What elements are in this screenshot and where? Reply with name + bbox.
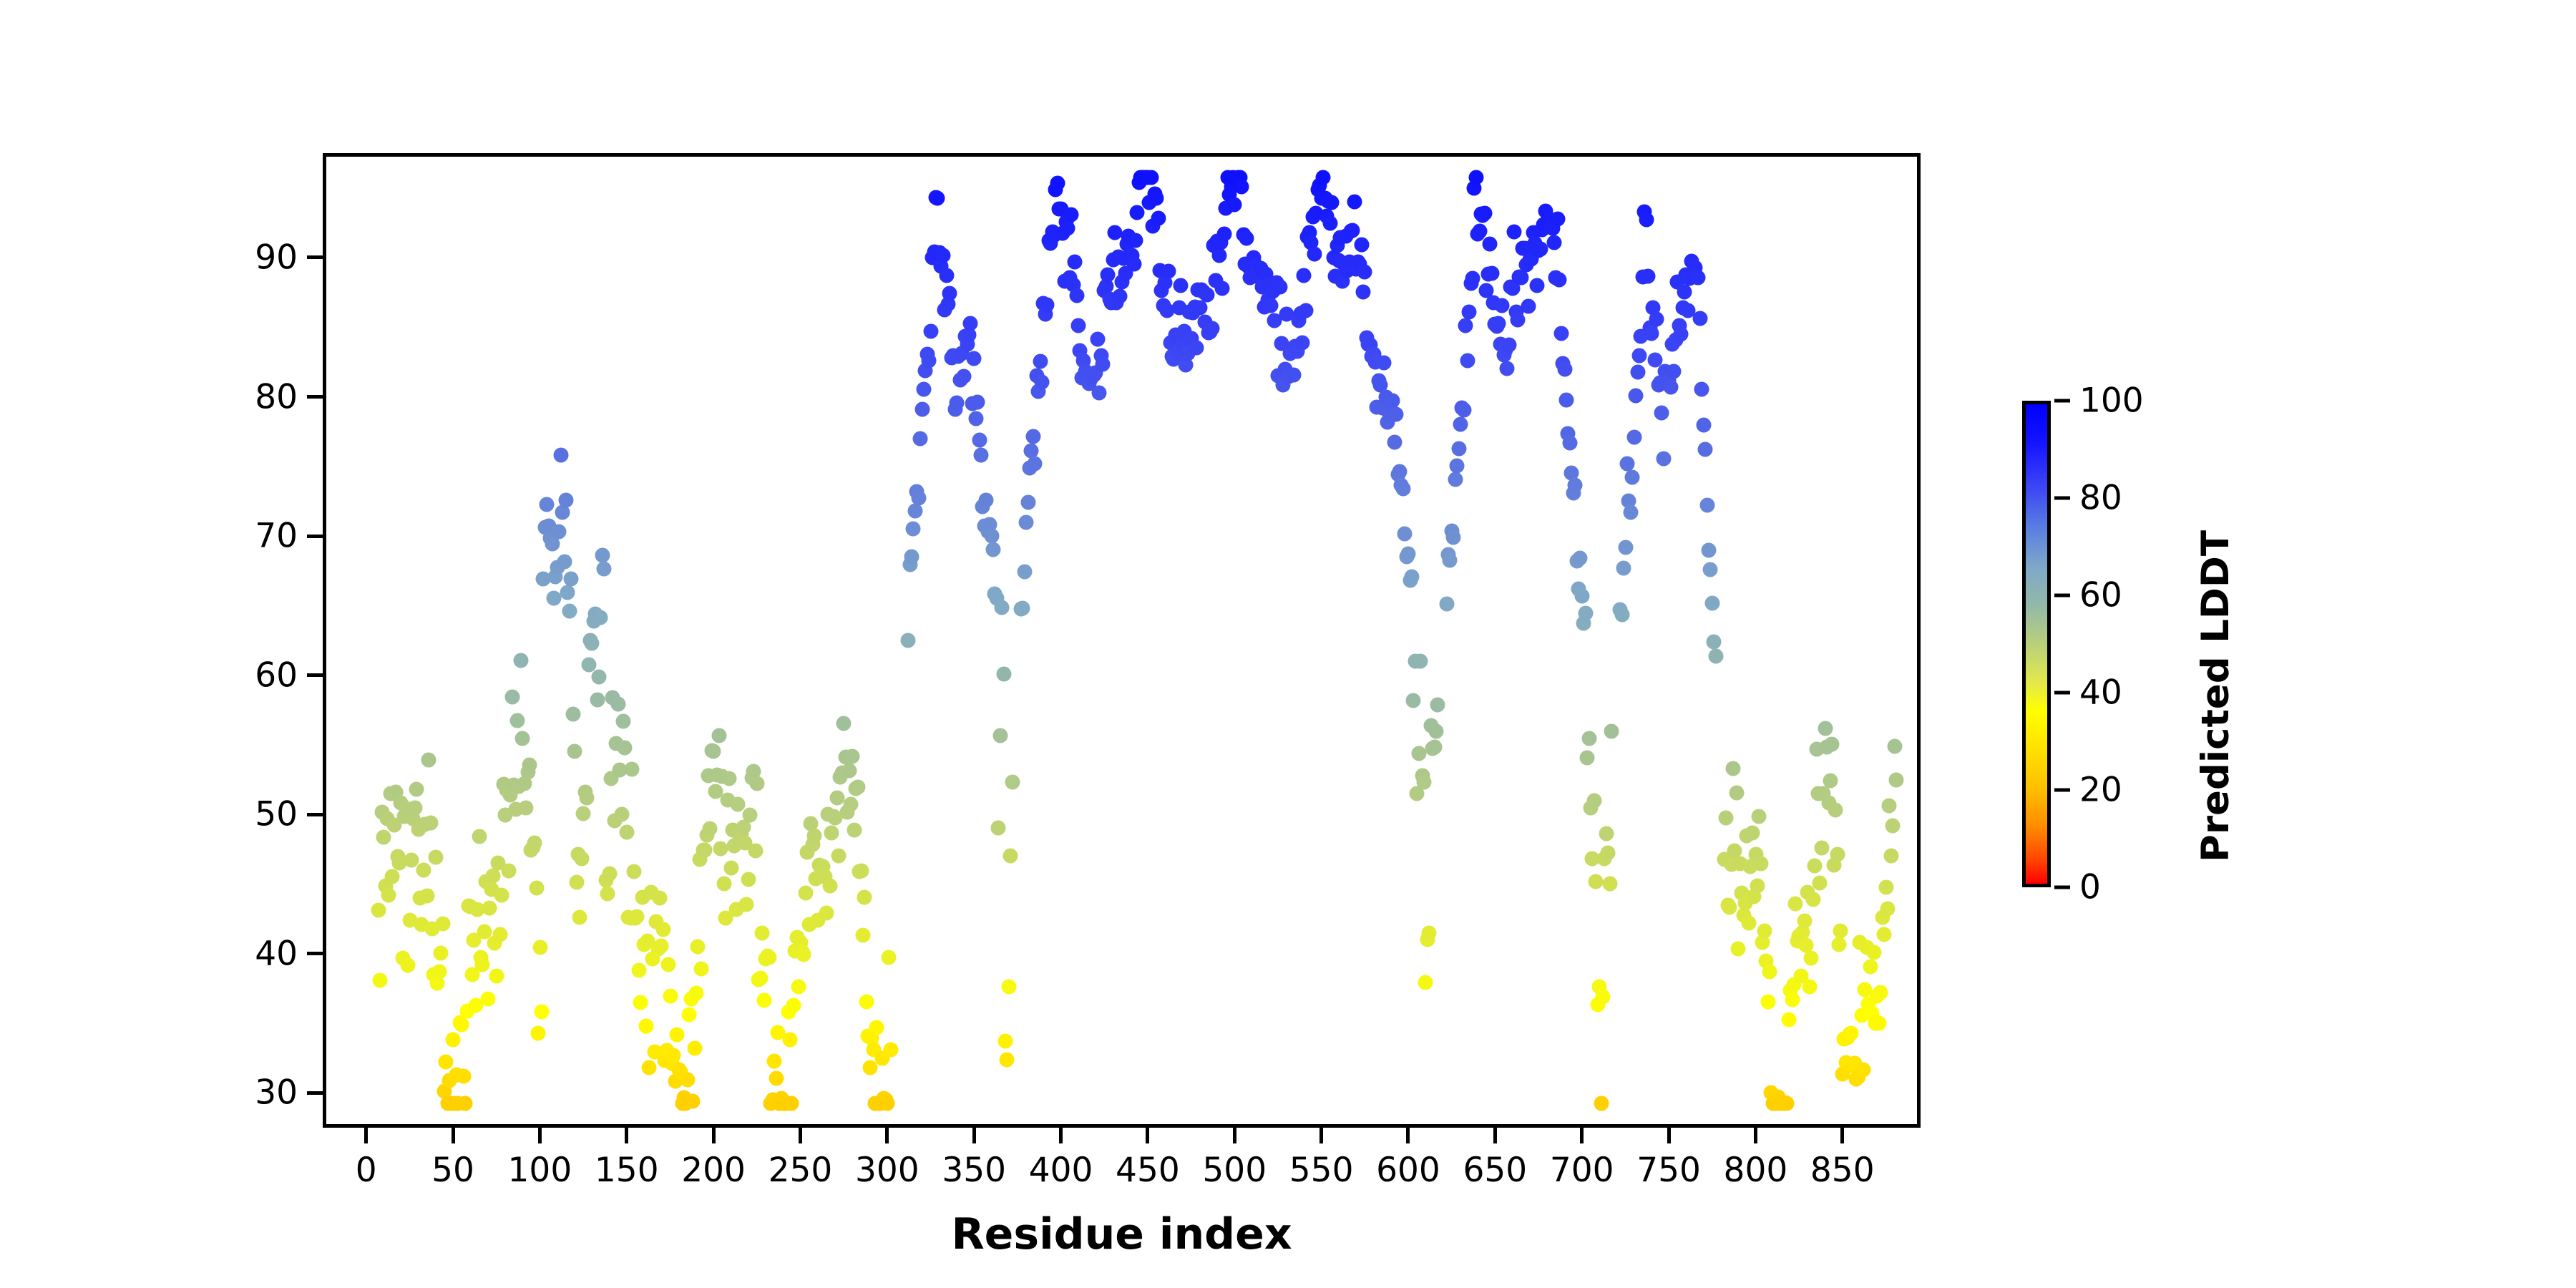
scatter-point [1667,364,1682,379]
scatter-point [1832,937,1847,952]
scatter-point [1574,589,1589,604]
scatter-point [1397,526,1413,541]
scatter-point [879,1096,894,1111]
scatter-point [1070,318,1085,333]
scatter-point [741,872,756,887]
scatter-point [515,731,530,746]
scatter-point [580,791,595,806]
scatter-point [756,993,771,1008]
scatter-point [1877,927,1892,942]
scatter-point [1453,417,1468,432]
scatter-point [942,286,957,301]
colorbar-tick-label: 100 [2079,381,2144,421]
x-tick-label: 450 [1116,1151,1180,1190]
scatter-point [703,821,718,836]
x-tick-label: 600 [1376,1151,1440,1190]
y-tick-mark [307,255,323,259]
scatter-point [1472,223,1487,238]
scatter-point [1468,170,1483,185]
scatter-point [784,1096,799,1111]
scatter-point [504,689,519,704]
scatter-point [1034,374,1049,389]
scatter-point [1753,856,1768,871]
scatter-point [600,886,615,901]
colorbar-tick-label: 0 [2079,868,2101,907]
scatter-point [513,653,528,668]
scatter-point [1295,335,1310,350]
scatter-point [1428,724,1443,739]
scatter-point [1015,601,1030,616]
scatter-point [1818,721,1833,736]
scatter-point [1406,693,1421,708]
scatter-point [1322,215,1337,230]
colorbar-title: Predicted LDDT [2194,530,2238,862]
scatter-point [974,448,989,463]
scatter-point [1729,786,1744,801]
colorbar-tick-mark [2054,497,2070,500]
scatter-point [1823,773,1838,788]
scatter-point [1216,226,1231,241]
x-tick-mark [972,1128,976,1143]
scatter-point [1234,180,1249,195]
scatter-point [1866,945,1881,960]
scatter-point [783,1033,798,1048]
colorbar-tick-mark [2054,594,2070,597]
scatter-point [1719,810,1734,825]
scatter-point [687,1040,702,1055]
x-axis-title: Residue index [0,1209,2243,1259]
scatter-point [1785,992,1800,1008]
scatter-point [1844,1025,1859,1040]
scatter-point [1731,941,1746,956]
x-tick-label: 500 [1202,1151,1267,1190]
x-tick-label: 700 [1550,1151,1614,1190]
scatter-point [1704,595,1719,610]
scatter-point [552,525,567,540]
scatter-point [847,822,862,837]
scatter-point [456,1068,471,1083]
scatter-point [1649,311,1664,326]
scatter-point [682,1008,697,1023]
scatter-point [625,762,640,777]
scatter-point [501,863,516,878]
scatter-point [1631,348,1646,363]
scatter-point [1807,859,1823,874]
scatter-point [1814,840,1829,855]
scatter-point [1507,225,1522,240]
scatter-point [1882,798,1897,813]
scatter-point [1427,739,1442,754]
scatter-point [569,875,584,890]
x-tick-mark [1754,1128,1757,1143]
colorbar-gradient [2022,401,2051,887]
scatter-point [706,744,721,759]
scatter-point [1439,596,1454,611]
x-tick-label: 400 [1029,1151,1093,1190]
scatter-point [532,940,547,955]
scatter-point [494,887,509,902]
x-tick-mark [1493,1128,1497,1143]
scatter-point [1573,551,1588,566]
scatter-point [540,497,555,512]
scatter-point [1416,775,1431,790]
scatter-point [680,1072,695,1087]
scatter-point [1750,879,1765,894]
x-tick-mark [799,1128,802,1143]
scatter-point [1443,553,1458,568]
scatter-point [1797,914,1812,929]
scatter-point [1199,288,1214,303]
scatter-point [428,849,443,864]
scatter-point [421,753,436,768]
scatter-point [1644,326,1659,341]
scatter-point [1562,435,1577,450]
colorbar-tick-mark [2054,789,2070,792]
x-tick-mark [1233,1128,1236,1143]
scatter-point [458,1096,473,1111]
scatter-point [419,888,434,903]
scatter-point [435,917,450,932]
scatter-point [1446,530,1461,545]
scatter-point [630,909,645,924]
scatter-point [416,862,431,877]
scatter-point [1883,849,1898,864]
scatter-point [1101,267,1116,282]
scatter-point [564,571,579,586]
scatter-point [956,369,971,384]
x-tick-label: 850 [1810,1151,1875,1190]
scatter-point [1143,170,1158,185]
scatter-point [475,957,490,972]
scatter-point [1878,879,1893,894]
scatter-point [1297,268,1312,283]
x-tick-label: 800 [1724,1151,1788,1190]
scatter-point [376,830,391,845]
y-tick-label: 80 [233,377,298,416]
scatter-point [618,741,633,756]
scatter-point [883,1042,898,1057]
scatter-point [1696,418,1711,433]
scatter-point [1722,900,1737,915]
scatter-point [1604,723,1619,738]
scatter-point [560,585,575,600]
scatter-point [1781,1012,1796,1027]
scatter-point [1639,213,1654,228]
scatter-point [407,800,422,815]
scatter-point [1107,225,1122,240]
scatter-point [482,900,497,915]
scatter-point [1090,331,1105,346]
scatter-point [1028,457,1043,472]
scatter-point [562,603,577,618]
scatter-point [1674,327,1689,342]
y-tick-label: 50 [233,795,298,834]
scatter-point [967,351,982,366]
scatter-point [1863,959,1878,974]
colorbar-tick-mark [2054,691,2070,695]
scatter-point [1626,429,1641,444]
scatter-point [1128,233,1143,248]
scatter-point [913,431,928,446]
scatter-point [1239,231,1254,246]
scatter-point [691,940,706,955]
scatter-point [614,807,629,822]
colorbar-tick-label: 20 [2079,771,2122,810]
scatter-point [1286,367,1301,382]
scatter-point [1307,247,1322,262]
scatter-point [1113,289,1128,304]
scatter-point [1215,280,1230,296]
scatter-point [1005,774,1020,789]
scatter-point [633,995,648,1010]
scatter-point [1601,845,1616,860]
scatter-point [431,964,447,979]
scatter-point [1833,923,1848,938]
scatter-point [1092,385,1107,400]
scatter-point [1656,451,1671,466]
scatter-point [666,1048,681,1063]
scatter-point [1001,980,1016,995]
scatter-point [1804,950,1819,965]
scatter-point [654,938,669,953]
y-tick-label: 90 [233,238,298,277]
scatter-point [1040,298,1055,313]
scatter-point [1411,746,1426,761]
scatter-point [1691,270,1706,285]
scatter-point [1619,456,1634,471]
scatter-point [1699,497,1714,512]
scatter-point [767,1054,782,1069]
scatter-point [576,806,591,821]
scatter-point [1126,257,1141,272]
scatter-point [739,897,754,912]
scatter-point [371,902,386,917]
scatter-point [882,950,897,965]
x-tick-label: 650 [1463,1151,1527,1190]
scatter-point [963,316,978,331]
x-tick-mark [538,1128,542,1143]
scatter-point [694,961,709,976]
scatter-point [1149,190,1164,205]
scatter-point [631,963,646,978]
scatter-point [585,636,600,651]
scatter-point [1552,272,1567,287]
scatter-point [859,994,874,1009]
scatter-point [670,1028,685,1043]
scatter-point [492,927,507,942]
scatter-point [1702,542,1717,557]
scatter-point [1694,382,1709,397]
scatter-point [1495,298,1510,313]
scatter-point [638,1018,653,1033]
scatter-point [713,841,728,856]
scatter-point [557,555,572,570]
scatter-point [1616,561,1631,576]
scatter-point [731,796,746,811]
scatter-point [472,829,487,844]
scatter-point [1227,197,1242,213]
scatter-point [1418,975,1433,990]
scatter-point [1456,403,1471,418]
x-tick-mark [364,1128,368,1143]
scatter-point [1885,818,1901,833]
scatter-point [619,824,634,839]
y-tick-mark [307,1091,323,1095]
scatter-point [1889,773,1904,788]
plot-axes [323,153,1921,1128]
scatter-point [373,973,388,988]
scatter-point [1698,441,1713,457]
scatter-point [1557,361,1572,376]
scatter-point [822,879,837,894]
scatter-point [1130,205,1145,220]
y-tick-label: 30 [233,1073,298,1113]
scatter-point [1003,849,1018,864]
scatter-point [1460,353,1475,368]
scatter-point [1500,361,1515,376]
scatter-point [1677,284,1692,299]
scatter-point [1641,268,1656,283]
scatter-point [489,969,504,984]
scatter-point [1580,750,1595,765]
scatter-point [995,600,1010,615]
scatter-point [904,549,919,564]
scatter-point [1151,210,1166,225]
scatter-point [722,771,737,786]
x-tick-label: 750 [1636,1151,1701,1190]
scatter-point [829,791,844,806]
scatter-point [1559,392,1574,407]
scatter-point [1629,389,1644,404]
x-tick-mark [1580,1128,1584,1143]
scatter-point [602,866,617,881]
x-tick-label: 250 [769,1151,833,1190]
scatter-point [1703,562,1718,577]
scatter-point [663,988,678,1003]
x-tick-mark [452,1128,455,1143]
scatter-point [1395,482,1410,497]
y-tick-mark [307,813,323,816]
scatter-point [968,411,983,426]
scatter-point [1385,394,1400,409]
scatter-point [595,547,610,562]
scatter-point [446,1032,461,1047]
scatter-point [753,971,768,986]
scatter-point [698,843,713,858]
scatter-point [749,776,764,791]
scatter-point [1599,826,1614,841]
scatter-point [1521,298,1536,313]
scatter-point [1477,205,1492,220]
scatter-point [1828,802,1843,817]
scatter-point [901,633,916,648]
scatter-point [1511,313,1526,328]
x-tick-label: 0 [356,1151,377,1190]
scatter-point [574,851,589,866]
scatter-point [769,1071,784,1086]
scatter-point [531,1026,546,1041]
scatter-point [616,713,631,728]
scatter-point [610,696,625,711]
scatter-point [819,906,834,921]
scatter-point [1377,356,1392,371]
scatter-point [1069,288,1084,303]
scatter-point [1356,284,1371,299]
y-tick-mark [307,952,323,955]
scatter-point [434,945,449,960]
scatter-point [1491,316,1506,331]
x-tick-label: 550 [1289,1151,1354,1190]
x-tick-label: 200 [681,1151,746,1190]
scatter-point [1692,311,1707,326]
scatter-point [1741,916,1756,931]
scatter-point [597,561,612,576]
scatter-point [655,922,670,937]
x-tick-label: 350 [942,1151,1006,1190]
scatter-point [748,843,763,858]
scatter-point [534,1005,549,1020]
scatter-point [844,797,859,812]
scatter-point [423,816,438,831]
scatter-point [1192,301,1207,316]
scatter-point [845,748,860,763]
scatter-point [381,887,396,902]
scatter-point [950,396,965,411]
scatter-point [716,876,731,891]
scatter-point [1387,435,1402,450]
scatter-point [522,757,537,772]
scatter-point [970,395,985,410]
scatter-point [661,957,676,972]
scatter-point [1578,606,1593,621]
scatter-point [1501,338,1516,353]
scatter-point [798,885,813,900]
scatter-point [1586,793,1601,808]
scatter-point [1020,495,1035,510]
scatter-point [869,1020,884,1035]
scatter-point [1462,305,1477,320]
scatter-point [916,382,931,397]
scatter-point [1025,429,1040,444]
scatter-point [688,986,703,1001]
scatter-point [1264,298,1279,313]
scatter-point [1019,514,1034,530]
scatter-point [439,1054,454,1069]
scatter-point [1614,608,1629,623]
y-tick-label: 40 [233,934,298,973]
colorbar-tick-label: 60 [2079,576,2122,615]
y-tick-label: 60 [233,655,298,695]
scatter-point [653,891,668,906]
scatter-point [1017,565,1032,580]
x-tick-label: 50 [431,1151,474,1190]
scatter-point [1887,739,1902,754]
scatter-point [1873,985,1888,1000]
scatter-point [1752,809,1767,824]
scatter-point [1413,653,1428,668]
y-tick-mark [307,535,323,538]
scatter-point [642,1060,657,1075]
scatter-point [1095,356,1110,371]
scatter-point [1050,176,1065,191]
scatter-point [1871,1015,1886,1030]
x-tick-label: 300 [855,1151,919,1190]
scatter-point [1760,995,1775,1010]
scatter-point [796,947,811,962]
scatter-point [401,957,416,972]
scatter-point [1513,270,1528,285]
scatter-point [553,448,568,463]
